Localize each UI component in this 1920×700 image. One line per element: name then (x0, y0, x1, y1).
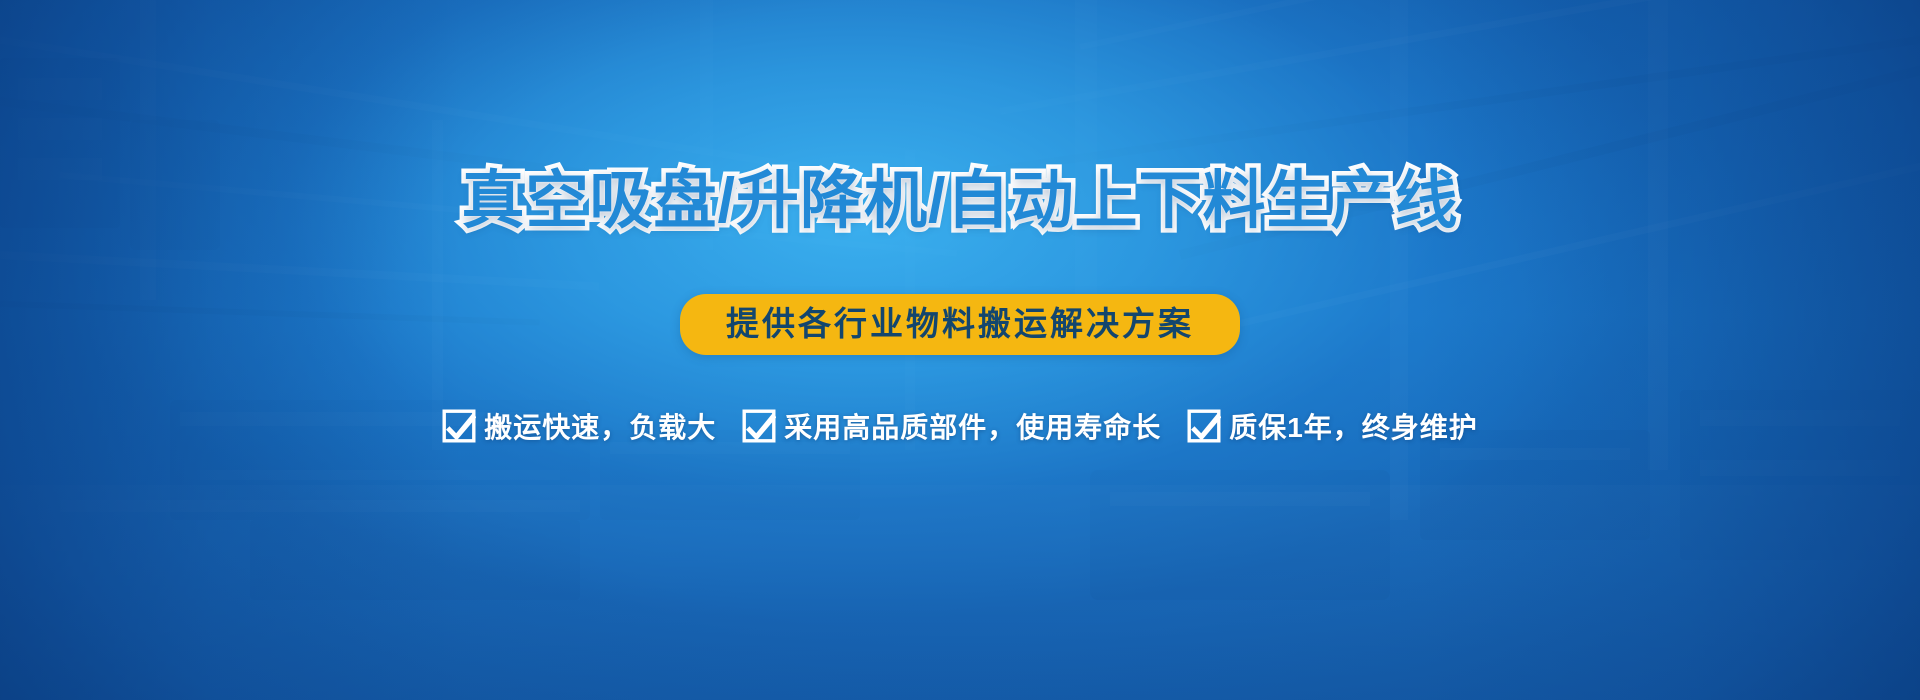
banner-headline: 真空吸盘/升降机/自动上下料生产线 (0, 166, 1920, 237)
subtitle-badge: 提供各行业物料搬运解决方案 (680, 294, 1240, 355)
feature-item: 搬运快速，负载大 (442, 406, 716, 446)
feature-label: 质保1年，终身维护 (1229, 406, 1478, 446)
subtitle-row: 提供各行业物料搬运解决方案 (0, 294, 1920, 355)
banner-content: 真空吸盘/升降机/自动上下料生产线 提供各行业物料搬运解决方案 搬运快速，负载大… (0, 0, 1920, 700)
feature-item: 采用高品质部件，使用寿命长 (742, 406, 1161, 446)
checkbox-checked-icon (1187, 409, 1221, 443)
feature-list: 搬运快速，负载大 采用高品质部件，使用寿命长 质保1年，终身维护 (0, 406, 1920, 446)
checkbox-checked-icon (442, 409, 476, 443)
feature-label: 采用高品质部件，使用寿命长 (784, 406, 1161, 446)
hero-banner: 真空吸盘/升降机/自动上下料生产线 提供各行业物料搬运解决方案 搬运快速，负载大… (0, 0, 1920, 700)
checkbox-checked-icon (742, 409, 776, 443)
feature-item: 质保1年，终身维护 (1187, 406, 1478, 446)
feature-label: 搬运快速，负载大 (484, 406, 716, 446)
